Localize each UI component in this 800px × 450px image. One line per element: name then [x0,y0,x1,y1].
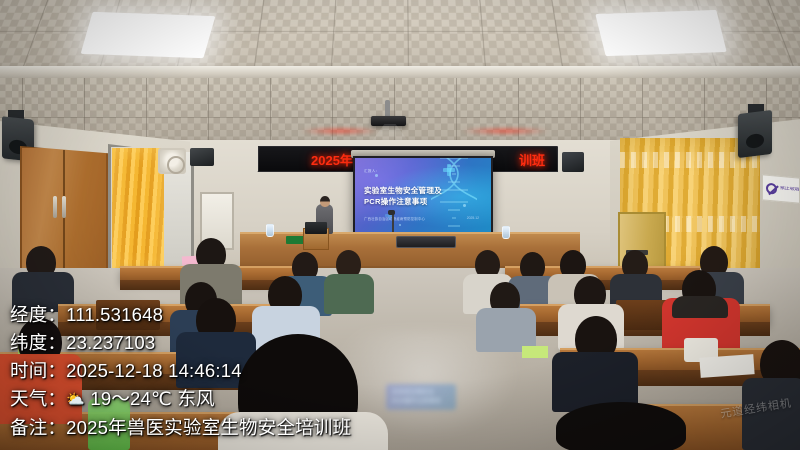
ceiling-red-glow-left [300,128,380,134]
medical-cross-icon-1 [443,168,455,172]
door-handle-left [53,196,57,218]
floor-projection-line-1: 实验室生物安全 [392,389,441,398]
photo-canvas: 禁止吸烟 2025年 训班 [0,0,800,450]
water-bottle-left [266,224,274,237]
presenter-laptop [305,222,327,234]
slide-presenter-tag: 汇报人： [364,169,380,174]
microphone-head [388,210,395,215]
attendee-hood [672,296,728,318]
floor-projected-slide: 实验室生物安全 PCR操作注意事项 [386,384,456,410]
slide-content: 汇报人： 实验室生物安全管理及 PCR操作注意事项 广西壮族自治区动物疫病预防控… [355,158,491,232]
ceiling-projector [371,116,406,126]
slide-dot-1 [375,174,378,177]
wall-monitor-left [190,148,214,166]
av-control-console [396,236,456,248]
no-smoking-label: 禁止吸烟 [780,186,799,193]
no-smoking-sign: 禁止吸烟 [762,174,800,203]
water-bottle-right [502,226,510,239]
led-banner-text-left: 2025年 [311,150,353,169]
ceiling-beam-upper [0,66,800,80]
wall-speaker-right [738,110,772,158]
floor-projection-text: 实验室生物安全 PCR操作注意事项 [392,389,441,407]
slide-subtitle: 广西壮族自治区动物疫病预防控制中心 [364,216,425,221]
led-banner-text-right: 训班 [519,150,545,169]
attendee-torso-orange [0,354,82,424]
projection-screen: 汇报人： 实验室生物安全管理及 PCR操作注意事项 广西壮族自治区动物疫病预防控… [353,156,493,234]
green-water-bottle [88,398,130,450]
green-notebook [522,346,548,358]
floor-projection-line-2: PCR操作注意事项 [392,398,441,407]
paper-sheet [699,354,754,378]
ceiling-light-panel-left [81,12,216,58]
slide-dot-3 [463,204,466,207]
chair-back [96,300,160,330]
ceiling-light-panel-right [595,10,726,56]
presenter-head [320,196,330,207]
slide-subtitle-right: 2025.12 [467,216,479,220]
slide-title-line-1: 实验室生物安全管理及 [364,185,442,196]
desk-row2-left [58,304,276,324]
attendee-hair-long [556,402,686,450]
door-handle-right [62,196,66,218]
air-conditioner-left [158,148,186,174]
microphone-stand [392,214,394,232]
ceiling-red-glow-right [460,128,550,134]
attendee-torso-cream [218,412,388,450]
no-smoking-icon [766,182,777,194]
attendee-torso [324,274,374,314]
wall-monitor-right [562,152,584,172]
slide-dot-4 [399,224,401,226]
slide-title-line-2: PCR操作注意事项 [364,196,442,207]
slide-title: 实验室生物安全管理及 PCR操作注意事项 [364,185,442,208]
